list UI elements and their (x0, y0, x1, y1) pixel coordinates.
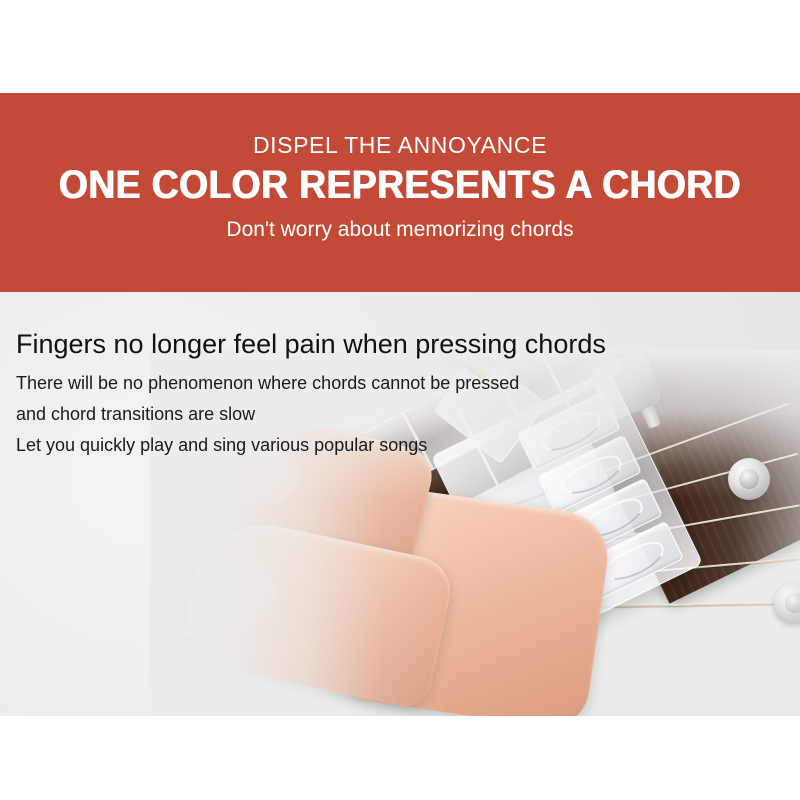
feature-heading: Fingers no longer feel pain when pressin… (16, 328, 606, 360)
feature-body: There will be no phenomenon where chords… (16, 372, 519, 465)
banner-subtitle-text: Don't worry about memorizing chords (0, 217, 800, 243)
photo-bottom-mask (0, 720, 800, 800)
banner-headline-text: ONE COLOR REPRESENTS A CHORD (28, 163, 772, 207)
feature-body-line: Let you quickly play and sing various po… (16, 434, 519, 457)
feature-section: Fingers no longer feel pain when pressin… (0, 292, 800, 716)
banner-eyebrow-text: DISPEL THE ANNOYANCE (0, 131, 800, 159)
top-white-spacer (0, 0, 800, 93)
feature-body-line: and chord transitions are slow (16, 403, 519, 426)
promo-banner: DISPEL THE ANNOYANCE ONE COLOR REPRESENT… (0, 93, 800, 292)
feature-body-line: There will be no phenomenon where chords… (16, 372, 519, 395)
promo-banner-content: DISPEL THE ANNOYANCE ONE COLOR REPRESENT… (0, 93, 800, 292)
product-detail-page: DISPEL THE ANNOYANCE ONE COLOR REPRESENT… (0, 0, 800, 800)
